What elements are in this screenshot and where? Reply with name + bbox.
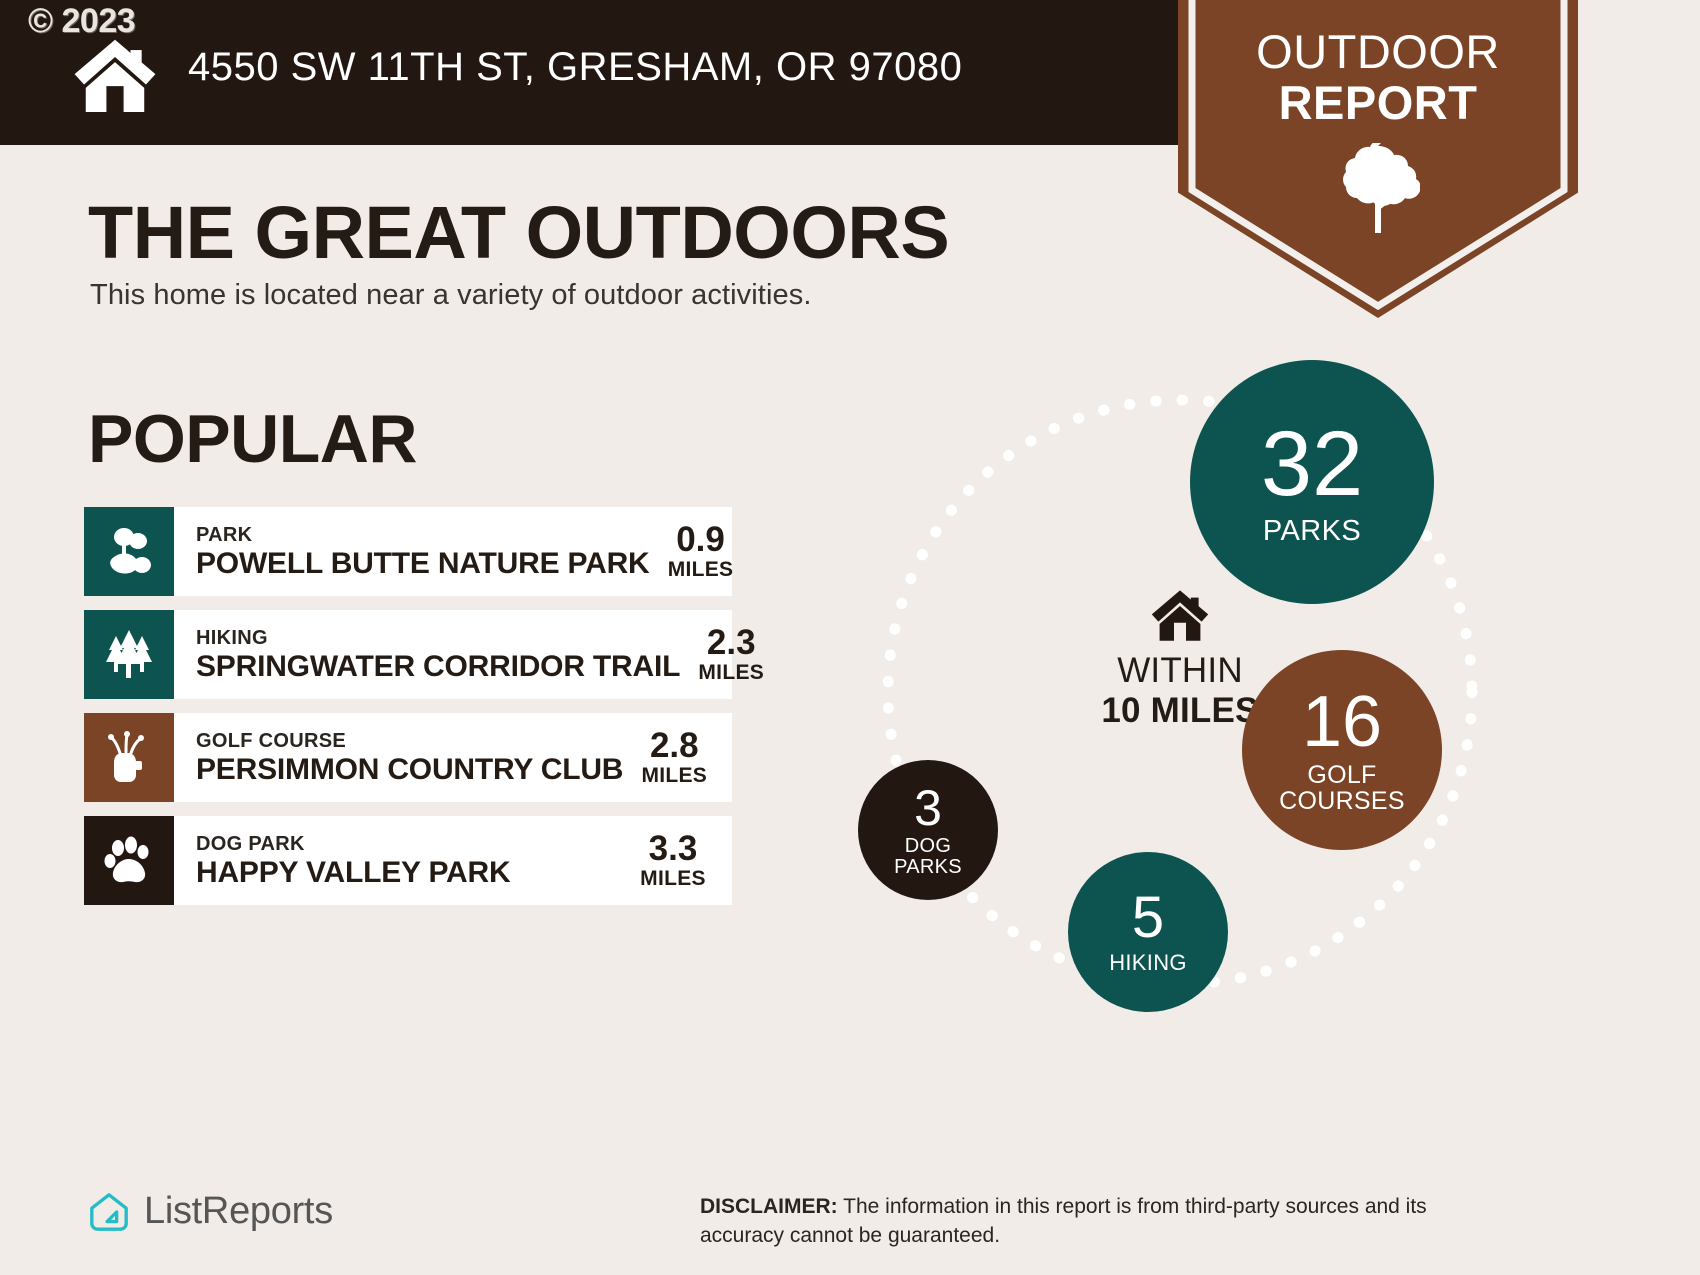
list-item-distance: 2.8 MILES xyxy=(623,713,733,802)
bubble-golf-courses[interactable]: 16 GOLF COURSES xyxy=(1242,650,1442,850)
house-icon xyxy=(72,36,158,114)
outdoor-report-badge: OUTDOOR REPORT xyxy=(1178,0,1578,318)
popular-heading: POPULAR xyxy=(88,400,417,478)
list-item[interactable]: DOG PARK HAPPY VALLEY PARK 3.3 MILES xyxy=(84,816,732,905)
list-item-body: DOG PARK HAPPY VALLEY PARK xyxy=(174,816,622,905)
page-title: THE GREAT OUTDOORS xyxy=(88,190,949,275)
bubble-parks[interactable]: 32 PARKS xyxy=(1190,360,1434,604)
listreports-wordmark: ListReports xyxy=(144,1190,333,1233)
golf-bag-icon xyxy=(84,713,174,802)
list-item[interactable]: HIKING SPRINGWATER CORRIDOR TRAIL 2.3 MI… xyxy=(84,610,732,699)
distance-unit: MILES xyxy=(698,661,764,685)
bubble-hiking[interactable]: 5 HIKING xyxy=(1068,852,1228,1012)
bubble-label-line-2: PARKS xyxy=(894,857,962,878)
bubble-label-line-1: GOLF xyxy=(1279,762,1405,788)
list-item-distance: 2.3 MILES xyxy=(680,610,790,699)
list-item-category: PARK xyxy=(196,523,650,547)
list-item-body: GOLF COURSE PERSIMMON COUNTRY CLUB xyxy=(174,713,623,802)
list-item-name: HAPPY VALLEY PARK xyxy=(196,856,622,890)
distance-unit: MILES xyxy=(668,558,734,582)
badge-title: OUTDOOR REPORT xyxy=(1178,26,1578,128)
list-item-distance: 3.3 MILES xyxy=(622,816,732,905)
listreports-logo[interactable]: ListReports xyxy=(88,1190,333,1233)
disclaimer: DISCLAIMER: The information in this repo… xyxy=(700,1192,1490,1250)
bubble-dog-parks[interactable]: 3 DOG PARKS xyxy=(858,760,998,900)
bubble-label: PARKS xyxy=(1263,516,1361,546)
property-address: 4550 SW 11TH ST, GRESHAM, OR 97080 xyxy=(188,45,962,90)
list-item-name: SPRINGWATER CORRIDOR TRAIL xyxy=(196,650,680,684)
bubble-label: GOLF COURSES xyxy=(1279,762,1405,815)
house-icon xyxy=(1150,588,1210,642)
distance-unit: MILES xyxy=(641,764,707,788)
bubble-value: 3 xyxy=(914,783,942,833)
list-item-category: HIKING xyxy=(196,626,680,650)
within-10-miles-chart: WITHIN 10 MILES 32 PARKS 16 GOLF COURSES… xyxy=(830,350,1530,1030)
bubble-value: 32 xyxy=(1261,418,1363,510)
park-trees-icon xyxy=(84,507,174,596)
bubble-label: HIKING xyxy=(1109,951,1187,974)
list-item-distance: 0.9 MILES xyxy=(650,507,760,596)
bubble-value: 16 xyxy=(1302,686,1382,758)
list-item-body: PARK POWELL BUTTE NATURE PARK xyxy=(174,507,650,596)
badge-line-2: REPORT xyxy=(1178,77,1578,128)
list-item-category: DOG PARK xyxy=(196,832,622,856)
popular-list: PARK POWELL BUTTE NATURE PARK 0.9 MILES … xyxy=(84,507,732,919)
listreports-house-icon xyxy=(88,1191,130,1233)
distance-value: 2.8 xyxy=(650,728,699,764)
bubble-label-line-2: COURSES xyxy=(1279,788,1405,814)
distance-value: 3.3 xyxy=(649,831,698,867)
pine-trees-icon xyxy=(84,610,174,699)
copyright-label: © 2023 xyxy=(28,2,135,41)
list-item-name: POWELL BUTTE NATURE PARK xyxy=(196,547,650,581)
list-item[interactable]: GOLF COURSE PERSIMMON COUNTRY CLUB 2.8 M… xyxy=(84,713,732,802)
distance-unit: MILES xyxy=(640,867,706,891)
header-bar: 4550 SW 11TH ST, GRESHAM, OR 97080 xyxy=(0,0,1260,145)
paw-print-icon xyxy=(84,816,174,905)
list-item-name: PERSIMMON COUNTRY CLUB xyxy=(196,753,623,787)
page-subtitle: This home is located near a variety of o… xyxy=(90,279,811,312)
disclaimer-label: DISCLAIMER: xyxy=(700,1195,838,1218)
distance-value: 0.9 xyxy=(676,522,725,558)
bubble-label-line-1: DOG xyxy=(894,836,962,857)
list-item-category: GOLF COURSE xyxy=(196,729,623,753)
list-item-body: HIKING SPRINGWATER CORRIDOR TRAIL xyxy=(174,610,680,699)
badge-line-1: OUTDOOR xyxy=(1178,26,1578,77)
tree-icon xyxy=(1336,143,1420,235)
distance-value: 2.3 xyxy=(707,625,756,661)
list-item[interactable]: PARK POWELL BUTTE NATURE PARK 0.9 MILES xyxy=(84,507,732,596)
bubble-value: 5 xyxy=(1132,889,1164,947)
bubble-label: DOG PARKS xyxy=(894,836,962,878)
